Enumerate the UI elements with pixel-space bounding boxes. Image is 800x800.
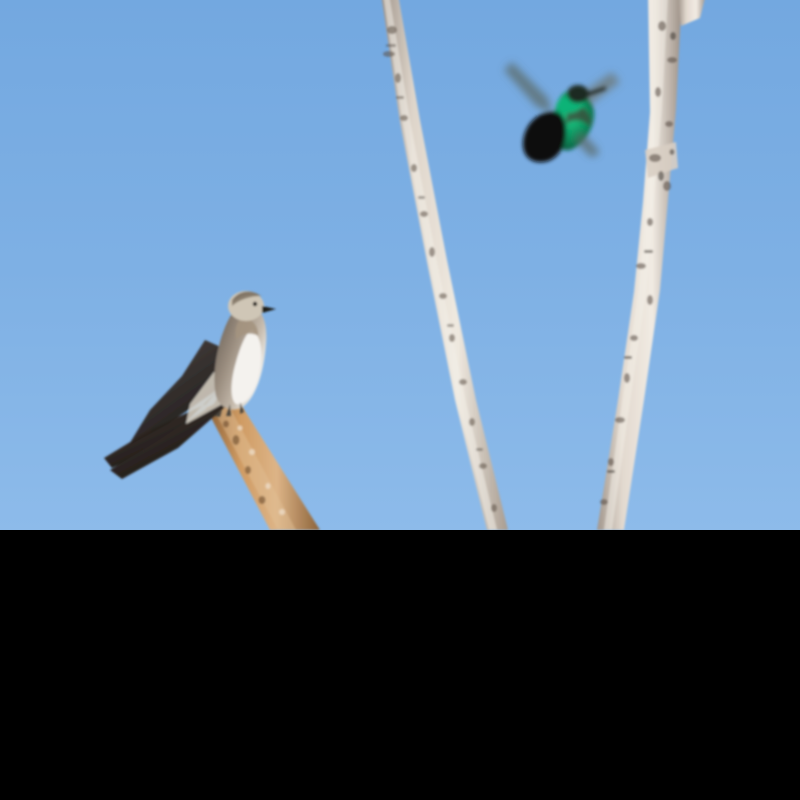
martin-eye (253, 302, 257, 306)
footer-credits-bar: Golondrina parda – Progne tapera Fotógra… (0, 730, 800, 800)
species-name-panel: Golondrina parda Brown-chested Martin Pr… (0, 530, 800, 730)
hummingbird-head (567, 85, 589, 103)
bird-photo-card: Golondrina parda Brown-chested Martin Pr… (0, 0, 800, 800)
bird-photograph (0, 0, 800, 530)
